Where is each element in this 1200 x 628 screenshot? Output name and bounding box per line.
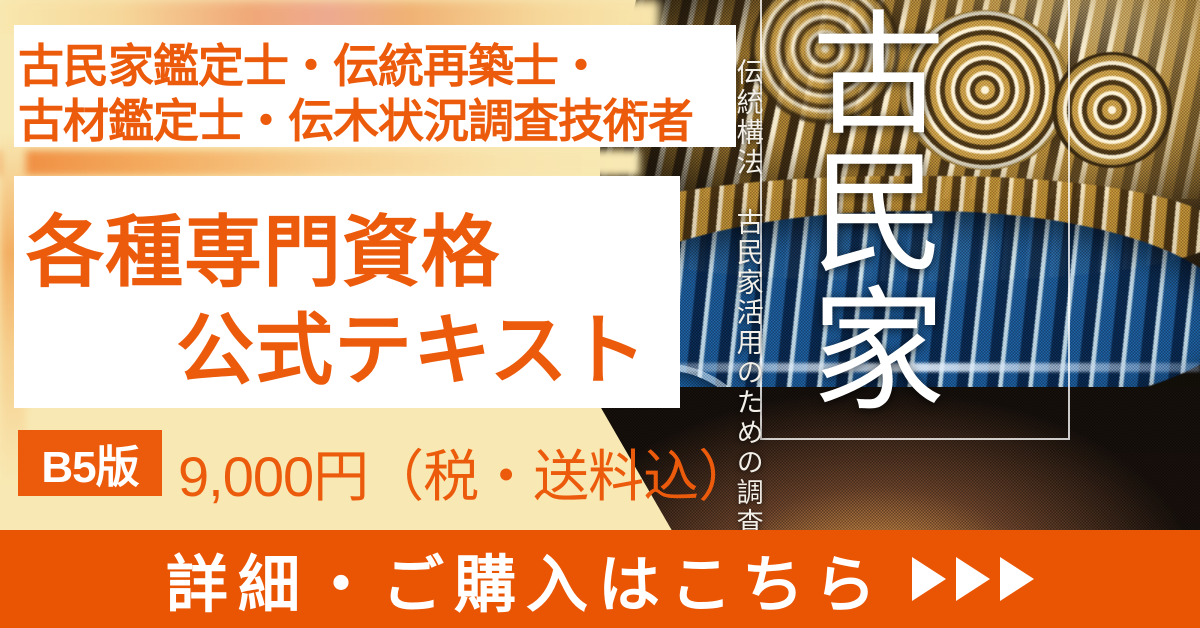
book-cover-title: 古民家 <box>795 4 934 418</box>
arrows-group <box>912 557 1034 601</box>
triangle-right-icon <box>912 557 946 601</box>
middle-gradient-glow <box>0 150 640 176</box>
price-text: 9,000円（税・送料込） <box>178 432 753 513</box>
title-line-2: 公式テキスト <box>176 288 648 400</box>
format-badge: B5版 <box>18 430 162 496</box>
headline-line-2: 古材鑑定士・伝木状況調査技術者 <box>18 85 693 151</box>
promo-banner: 古民家 伝統構法 古民家活用のための調査と再生の 古民家鑑定士・伝統再築士・ 古… <box>0 0 1200 628</box>
triangle-right-icon <box>956 557 990 601</box>
title-line-1: 各種専門資格 <box>26 190 500 302</box>
cta-bar[interactable]: 詳細・ご購入はこちら <box>0 530 1200 628</box>
cta-label: 詳細・ご購入はこちら <box>166 534 886 624</box>
triangle-right-icon <box>1000 557 1034 601</box>
